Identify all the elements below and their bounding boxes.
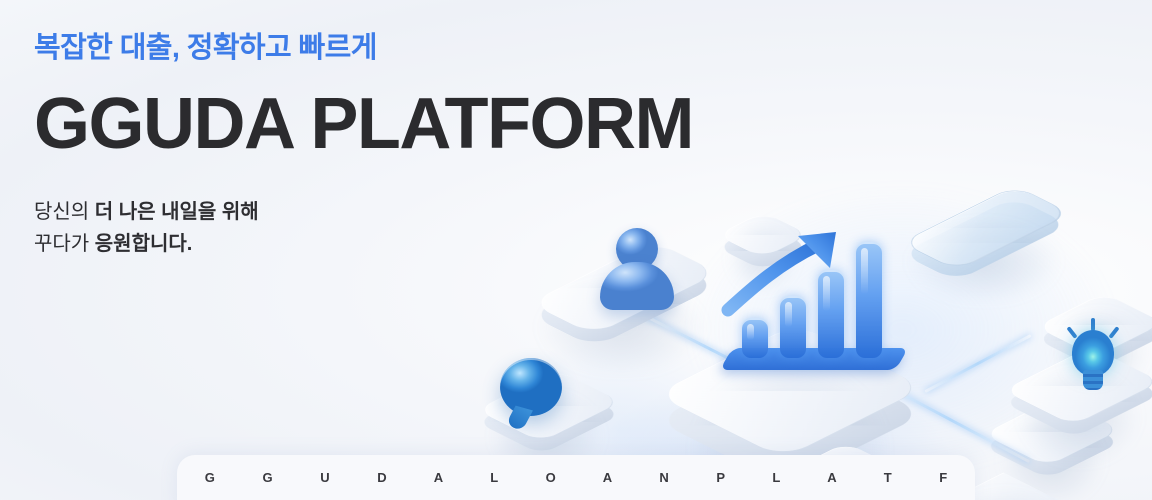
subtitle-line-2-bold: 응원합니다. bbox=[95, 233, 193, 255]
user-body bbox=[600, 262, 674, 310]
hero-copy: 복잡한 대출, 정확하고 빠르게 GGUDA PLATFORM 당신의 더 나은… bbox=[34, 30, 594, 260]
lightbulb-3d-icon bbox=[1066, 316, 1120, 394]
bulb-ray-left bbox=[1066, 326, 1077, 339]
page-title: GGUDA PLATFORM bbox=[34, 88, 594, 160]
bulb-screw bbox=[1083, 370, 1103, 390]
subtitle-line-2: 꾸다가 응원합니다. bbox=[34, 228, 594, 260]
subtitle-line-1-bold: 더 나은 내일을 위해 bbox=[95, 201, 259, 223]
subtitle-line-1-normal: 당신의 bbox=[34, 201, 95, 223]
user-3d-icon bbox=[600, 228, 674, 312]
subtitle-line-2-normal: 꾸다가 bbox=[34, 233, 95, 255]
subtitle-line-1: 당신의 더 나은 내일을 위해 bbox=[34, 196, 594, 228]
footer-card-label: G G U D A L O A N P L A T F O R M bbox=[177, 455, 975, 500]
hero-banner: 복잡한 대출, 정확하고 빠르게 GGUDA PLATFORM 당신의 더 나은… bbox=[0, 0, 1152, 500]
bar-chart-3d-icon bbox=[718, 228, 928, 388]
chart-bar bbox=[818, 270, 844, 358]
bulb-ray-right bbox=[1108, 326, 1119, 339]
chart-bar bbox=[856, 242, 882, 358]
hero-subtitle: 당신의 더 나은 내일을 위해 꾸다가 응원합니다. bbox=[34, 196, 594, 260]
chart-bar bbox=[742, 318, 768, 358]
chart-bar bbox=[780, 296, 806, 358]
hero-tagline: 복잡한 대출, 정확하고 빠르게 bbox=[34, 30, 594, 66]
footer-card: G G U D A L O A N P L A T F O R M bbox=[177, 455, 975, 500]
speech-bubble-3d-icon bbox=[500, 358, 562, 416]
